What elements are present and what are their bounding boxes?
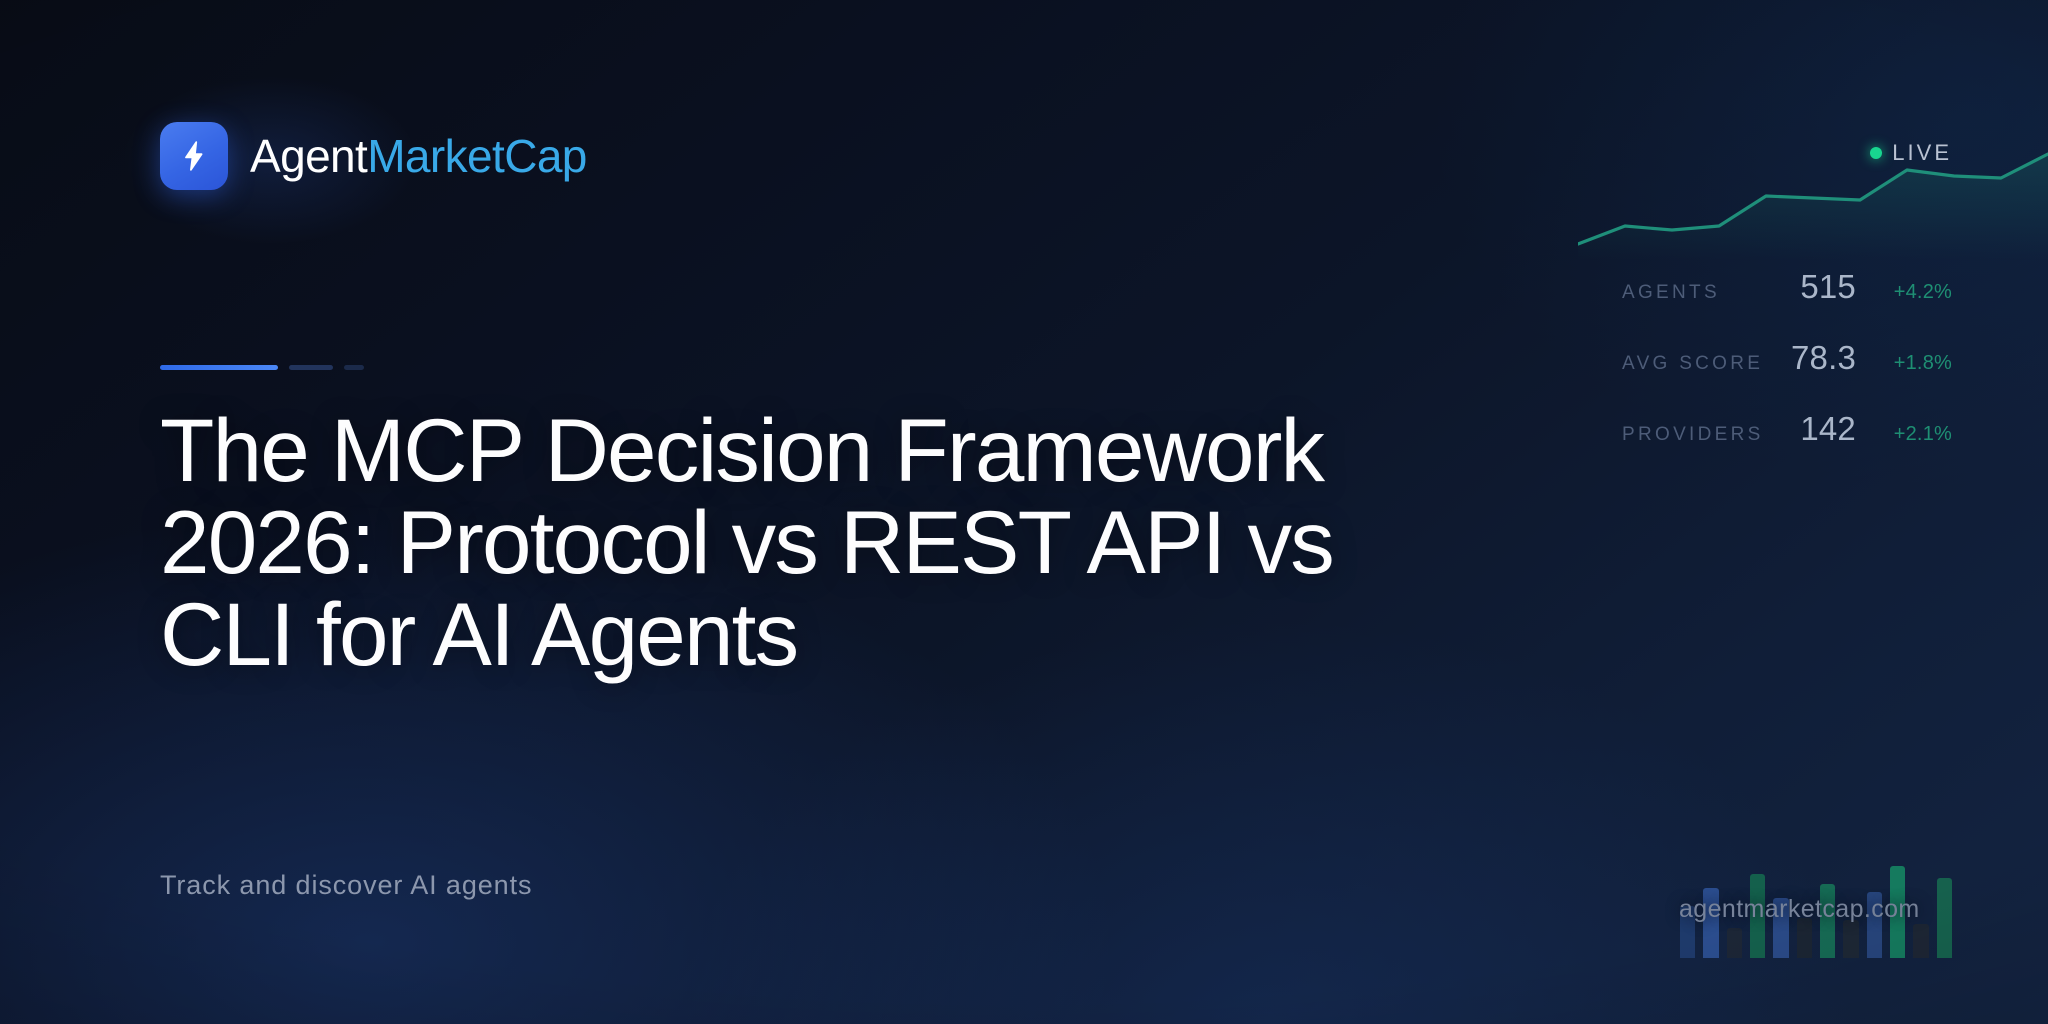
stat-label: AVG SCORE: [1622, 353, 1763, 375]
brand-name-part2: MarketCap: [367, 130, 587, 182]
accent-dash-2: [289, 365, 333, 370]
brand-logo[interactable]: AgentMarketCap: [160, 122, 587, 190]
brand-wordmark: AgentMarketCap: [250, 133, 587, 179]
footer-bar: [1843, 920, 1858, 958]
accent-dash-1: [160, 365, 278, 370]
tagline: Track and discover AI agents: [160, 870, 532, 901]
footer-bar: [1797, 918, 1812, 958]
stat-change: +4.2%: [1856, 281, 1952, 304]
accent-dashes: [160, 365, 364, 370]
stat-row: AGENTS 515 +4.2%: [1622, 268, 1952, 339]
stat-value: 142: [1764, 410, 1856, 448]
hero-banner: AgentMarketCap The MCP Decision Framewor…: [0, 0, 2048, 1024]
live-dot-icon: [1870, 147, 1882, 159]
live-label: LIVE: [1892, 140, 1952, 166]
sparkline-area: [1578, 154, 2048, 260]
accent-dash-3: [344, 365, 364, 370]
stat-label: PROVIDERS: [1622, 424, 1764, 446]
brand-name-part1: Agent: [250, 130, 367, 182]
footer-bar: [1727, 928, 1742, 958]
site-url: agentmarketcap.com: [1679, 895, 1951, 924]
live-sparkline-chart: [1578, 140, 2048, 260]
stat-label: AGENTS: [1622, 282, 1720, 304]
footer-branding: agentmarketcap.com: [1680, 848, 1952, 958]
stat-change: +2.1%: [1856, 423, 1952, 446]
stat-change: +1.8%: [1856, 352, 1952, 375]
lightning-bolt-icon: [160, 122, 228, 190]
page-title: The MCP Decision Framework 2026: Protoco…: [160, 404, 1450, 680]
stats-list: AGENTS 515 +4.2% AVG SCORE 78.3 +1.8% PR…: [1622, 268, 1952, 481]
stat-value: 78.3: [1764, 339, 1856, 377]
stat-value: 515: [1764, 268, 1856, 306]
stat-row: AVG SCORE 78.3 +1.8%: [1622, 339, 1952, 410]
live-badge: LIVE: [1870, 140, 1952, 166]
stat-row: PROVIDERS 142 +2.1%: [1622, 410, 1952, 481]
footer-bar: [1913, 924, 1928, 958]
